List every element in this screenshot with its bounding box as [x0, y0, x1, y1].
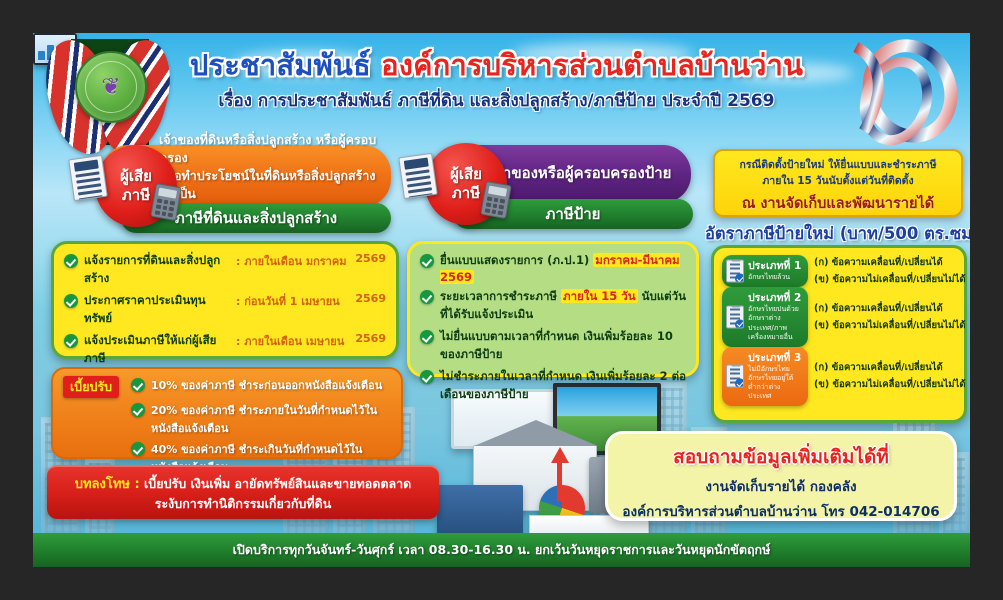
page-subtitle: เรื่อง การประชาสัมพันธ์ ภาษีที่ดิน และสิ…	[173, 87, 820, 114]
sign-taxpayer-badge-line-2: ภาษี	[452, 184, 480, 203]
sign-schedule-row: ยื่นแบบแสดงรายการ (ภ.ป.1) มกราคม-มีนาคม …	[420, 252, 686, 284]
sign-schedule-text: ยื่นแบบแสดงรายการ (ภ.ป.1) มกราคม-มีนาคม …	[440, 252, 686, 284]
notice-line-2: ภายใน 15 วันนับตั้งแต่วันที่ติดตั้ง	[723, 174, 953, 190]
land-schedule-label: ประกาศราคาประเมินทุนทรัพย์	[84, 292, 230, 328]
land-tax-category-label: ภาษีที่ดินและสิ่งปลูกสร้าง	[175, 206, 337, 230]
rate-condition-list: (ก) ข้อความเคลื่อนที่/เปลี่ยนได้(ข) ข้อค…	[814, 287, 966, 347]
rate-condition-item: (ก) ข้อความเคลื่อนที่/เปลี่ยนได้	[814, 255, 966, 270]
land-taxpayer-badge-line-1: ผู้เสีย	[120, 167, 152, 186]
rate-condition-item: (ก) ข้อความเคลื่อนที่/เปลี่ยนได้	[814, 301, 966, 316]
check-icon	[131, 403, 145, 417]
document-icon	[68, 155, 108, 201]
ribbon-swirl-decor	[838, 39, 964, 151]
land-schedule-row: ประกาศราคาประเมินทุนทรัพย์: ก่อนวันที่ 1…	[64, 292, 386, 328]
rate-table-row: ประเภทที่ 3ไม่มีอักษรไทยอักษรไทยอยู่ใต้ต…	[722, 347, 956, 407]
land-schedule-year: 2569	[354, 292, 386, 305]
organization-seal: ❦	[75, 51, 147, 123]
sign-text-pre: ไม่ชำระภายในเวลาที่กำหนด เงินเพิ่มร้อยละ…	[440, 369, 686, 401]
check-icon	[64, 294, 78, 308]
rate-table-row: ประเภทที่ 1อักษรไทยล้วน(ก) ข้อความเคลื่อ…	[722, 255, 956, 287]
sign-text-pre: ยื่นแบบแสดงรายการ (ภ.ป.1)	[440, 253, 593, 267]
title-part-1: ประชาสัมพันธ์	[190, 48, 381, 82]
land-schedule-label: แจ้งประเมินภาษีให้แก่ผู้เสียภาษี	[84, 332, 230, 368]
title-part-2: องค์การบริหารส่วนตำบลบ้านว่าน	[381, 48, 803, 82]
sign-text-pre: ระยะเวลาการชำระภาษี	[440, 289, 561, 303]
penalty-fine-tag: เบี้ยปรับ	[63, 376, 119, 398]
sign-schedule-text: ระยะเวลาการชำระภาษี ภายใน 15 วัน นับแต่ว…	[440, 288, 686, 324]
sign-rate-table: ประเภทที่ 1อักษรไทยล้วน(ก) ข้อความเคลื่อ…	[711, 245, 967, 423]
land-schedule-row: แจ้งรายการที่ดินและสิ่งปลูกสร้าง: ภายในเ…	[64, 252, 386, 288]
clipboard-check-icon	[726, 305, 744, 328]
check-icon	[131, 442, 145, 456]
rate-type-title: ประเภทที่ 1	[748, 260, 803, 273]
land-schedule-row: แจ้งประเมินภาษีให้แก่ผู้เสียภาษี: ภายในเ…	[64, 332, 386, 368]
growth-arrow-illustration	[557, 461, 562, 501]
rate-condition-list: (ก) ข้อความเคลื่อนที่/เปลี่ยนได้(ข) ข้อค…	[814, 255, 966, 287]
sign-schedule-row: ไม่ชำระภายในเวลาที่กำหนด เงินเพิ่มร้อยละ…	[420, 368, 686, 404]
sign-tax-category-label: ภาษีป้าย	[546, 202, 601, 226]
land-schedule-label: แจ้งรายการที่ดินและสิ่งปลูกสร้าง	[84, 252, 230, 288]
penalty-row: 20% ของค่าภาษี ชำระภายในวันที่กำหนดไว้ใน…	[63, 401, 391, 437]
contact-office: งานจัดเก็บรายได้ กองคลัง	[618, 475, 944, 497]
rate-type-sub-1: ไม่มีอักษรไทย	[748, 365, 803, 374]
sign-rate-title: อัตราภาษีป้ายใหม่ (บาท/500 ตร.ซม.)	[705, 221, 970, 247]
rate-condition-item: (ข) ข้อความไม่เคลื่อนที่/เปลี่ยนไม่ได้	[814, 377, 966, 392]
blue-house-illustration	[437, 485, 523, 535]
land-taxpayer-badge-line-2: ภาษี	[122, 186, 150, 205]
penalty-text: 20% ของค่าภาษี ชำระภายในวันที่กำหนดไว้ใน…	[151, 401, 391, 437]
penalty-panel: เบี้ยปรับ10% ของค่าภาษี ชำระก่อนออกหนังส…	[51, 367, 403, 459]
contact-heading: สอบถามข้อมูลเพิ่มเติมได้ที่	[618, 442, 944, 472]
contact-box: สอบถามข้อมูลเพิ่มเติมได้ที่ งานจัดเก็บรา…	[605, 431, 957, 521]
clipboard-check-icon	[726, 365, 744, 388]
sign-tax-payer-line-1: เจ้าของหรือผู้ครอบครองป้าย	[489, 163, 671, 185]
penalty-text: 10% ของค่าภาษี ชำระก่อนออกหนังสือแจ้งเตื…	[151, 376, 382, 394]
penalty-tag-cell: เบี้ยปรับ	[63, 376, 125, 398]
seal-glyph: ❦	[101, 74, 120, 100]
sign-schedule-text: ไม่ชำระภายในเวลาที่กำหนด เงินเพิ่มร้อยละ…	[440, 368, 686, 404]
sign-tax-schedule-card: ยื่นแบบแสดงรายการ (ภ.ป.1) มกราคม-มีนาคม …	[407, 241, 699, 377]
land-schedule-value: : ก่อนวันที่ 1 เมษายน	[236, 292, 348, 310]
page-title: ประชาสัมพันธ์ องค์การบริหารส่วนตำบลบ้านว…	[173, 49, 820, 82]
growth-arrow-head-icon	[551, 447, 569, 463]
header-title-block: ประชาสัมพันธ์ องค์การบริหารส่วนตำบลบ้านว…	[173, 49, 820, 114]
rate-type-sub-1: อักษรไทยปนด้วย	[748, 305, 803, 314]
new-sign-notice-box: กรณีติดตั้งป้ายใหม่ ให้ยื่นแบบและชำระภาษ…	[713, 149, 963, 217]
notice-line-1: กรณีติดตั้งป้ายใหม่ ให้ยื่นแบบและชำระภาษ…	[723, 158, 953, 174]
rate-condition-item: (ข) ข้อความไม่เคลื่อนที่/เปลี่ยนไม่ได้	[814, 272, 966, 287]
rate-condition-list: (ก) ข้อความเคลื่อนที่/เปลี่ยนได้(ข) ข้อค…	[814, 347, 966, 407]
land-tax-payer-line-2: หรือทำประโยชน์ในที่ดินหรือสิ่งปลูกสร้างอ…	[159, 167, 377, 203]
service-hours-text: เปิดบริการทุกวันจันทร์-วันศุกร์ เวลา 08.…	[233, 540, 771, 560]
land-tax-schedule-card: แจ้งรายการที่ดินและสิ่งปลูกสร้าง: ภายในเ…	[51, 241, 399, 359]
land-schedule-year: 2569	[354, 332, 386, 345]
rate-type-cell: ประเภทที่ 1อักษรไทยล้วน	[722, 255, 808, 287]
punishment-bar: บทลงโทษ : เบี้ยปรับ เงินเพิ่ม อายัดทรัพย…	[47, 465, 439, 519]
rate-type-sub-2: อักษรไทยอยู่ใต้	[748, 374, 803, 383]
footer-bar: เปิดบริการทุกวันจันทร์-วันศุกร์ เวลา 08.…	[33, 533, 970, 567]
check-icon	[420, 254, 434, 268]
land-schedule-value: : ภายในเดือน มกราคม	[236, 252, 348, 270]
punishment-text-1: เบี้ยปรับ เงินเพิ่ม อายัดทรัพย์สินและขาย…	[140, 476, 412, 491]
check-icon	[420, 370, 434, 384]
rate-type-title: ประเภทที่ 3	[748, 352, 803, 365]
contact-phone-line: องค์การบริหารส่วนตำบลบ้านว่าน โทร 042-01…	[618, 500, 944, 522]
document-icon	[398, 153, 438, 199]
check-icon	[420, 330, 434, 344]
rate-table-rows: ประเภทที่ 1อักษรไทยล้วน(ก) ข้อความเคลื่อ…	[722, 255, 956, 406]
land-schedule-value: : ภายในเดือน เมษายน	[236, 332, 348, 350]
rate-type-sub-2: อักษราต่างประเทศ/ภาพ	[748, 314, 803, 332]
notice-office: ณ งานจัดเก็บและพัฒนารายได้	[723, 192, 953, 215]
seal-inner-ring: ❦	[85, 61, 137, 113]
punishment-line-1: บทลงโทษ : เบี้ยปรับ เงินเพิ่ม อายัดทรัพย…	[59, 473, 427, 494]
sign-schedule-rows: ยื่นแบบแสดงรายการ (ภ.ป.1) มกราคม-มีนาคม …	[420, 252, 686, 404]
check-icon	[420, 290, 434, 304]
sign-schedule-row: ไม่ยื่นแบบตามเวลาที่กำหนด เงินเพิ่มร้อยล…	[420, 328, 686, 364]
clipboard-check-icon	[726, 260, 744, 283]
sign-schedule-row: ระยะเวลาการชำระภาษี ภายใน 15 วัน นับแต่ว…	[420, 288, 686, 324]
check-icon	[64, 254, 78, 268]
land-tax-payer-line-1: เจ้าของที่ดินหรือสิ่งปลูกสร้าง หรือผู้คร…	[159, 131, 377, 167]
check-icon	[131, 378, 145, 392]
rate-condition-item: (ก) ข้อความเคลื่อนที่/เปลี่ยนได้	[814, 360, 966, 375]
rate-type-title: ประเภทที่ 2	[748, 292, 803, 305]
rate-condition-item: (ข) ข้อความไม่เคลื่อนที่/เปลี่ยนไม่ได้	[814, 318, 966, 333]
punishment-tag: บทลงโทษ :	[75, 477, 140, 492]
rate-table-row: ประเภทที่ 2อักษรไทยปนด้วยอักษราต่างประเท…	[722, 287, 956, 347]
rate-type-cell: ประเภทที่ 3ไม่มีอักษรไทยอักษรไทยอยู่ใต้ต…	[722, 347, 808, 407]
sign-schedule-text: ไม่ยื่นแบบตามเวลาที่กำหนด เงินเพิ่มร้อยล…	[440, 328, 686, 364]
sign-taxpayer-badge-line-1: ผู้เสีย	[450, 165, 482, 184]
poster-canvas: ❦ ประชาสัมพันธ์ องค์การบริหารส่วนตำบลบ้า…	[33, 33, 970, 567]
punishment-line-2: ระงับการทำนิติกรรมเกี่ยวกับที่ดิน	[59, 494, 427, 514]
rate-type-sub-3: ต่ำกว่าต่างประเทศ	[748, 383, 803, 401]
land-schedule-year: 2569	[354, 252, 386, 265]
penalty-row: เบี้ยปรับ10% ของค่าภาษี ชำระก่อนออกหนังส…	[63, 376, 391, 398]
rate-type-sub-3: เครื่องหมายอื่น	[748, 333, 803, 342]
rate-type-cell: ประเภทที่ 2อักษรไทยปนด้วยอักษราต่างประเท…	[722, 287, 808, 347]
check-icon	[64, 334, 78, 348]
sign-text-highlight: ภายใน 15 วัน	[561, 289, 638, 303]
sign-text-pre: ไม่ยื่นแบบตามเวลาที่กำหนด เงินเพิ่มร้อยล…	[440, 329, 673, 361]
rate-type-sub-1: อักษรไทยล้วน	[748, 273, 803, 282]
